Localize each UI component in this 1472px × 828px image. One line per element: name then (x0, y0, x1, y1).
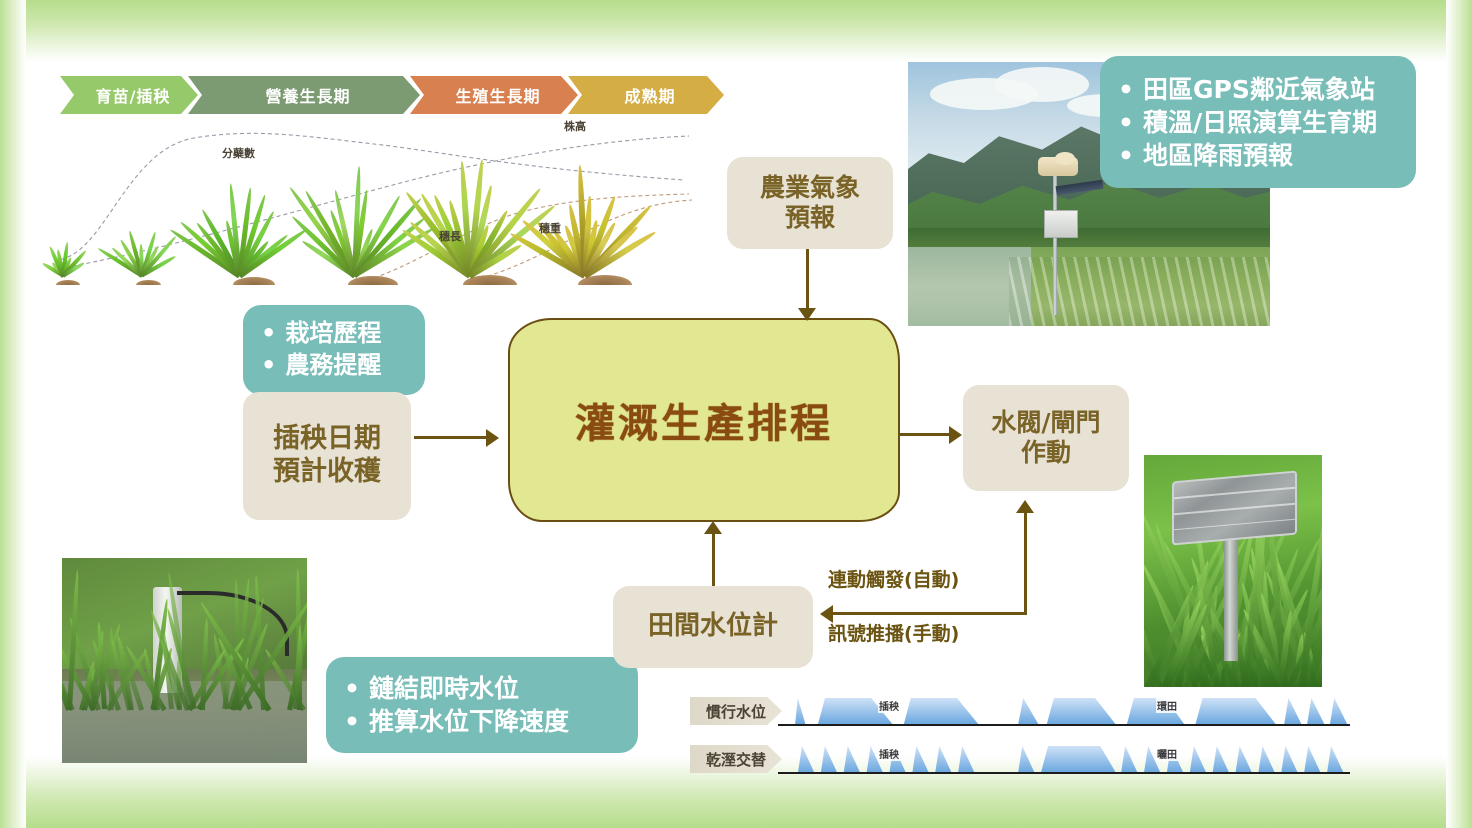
growth-curve-label-4: 穗重 (539, 220, 561, 236)
growth-stage-label: 育苗/插秧 (96, 83, 171, 107)
node-weather-forecast-line: 預報 (785, 203, 835, 234)
callout-cultivation-item: •栽培歷程 (261, 318, 407, 350)
decorative-frame-right (1446, 0, 1472, 828)
callout-weather-station-item: •田區GPS鄰近氣象站 (1118, 73, 1398, 106)
water-level-comparison-chart: 慣行水位插秧環田乾溼交替插秧曬田 (690, 695, 1350, 781)
edge-label-auto-trigger: 連動觸發(自動) (828, 565, 959, 592)
callout-weather-station-item: •積溫/日照演算生育期 (1118, 106, 1398, 139)
growth-stage-4: 成熟期 (568, 76, 724, 114)
water-chart-annotation: 曬田 (1156, 746, 1178, 761)
callout-weather-station-item-label: 積溫/日照演算生育期 (1143, 106, 1377, 139)
callout-water-level-item-label: 推算水位下降速度 (369, 705, 569, 738)
callout-water-level-item-label: 鏈結即時水位 (369, 672, 519, 705)
arrow-meter-valve-head-up (1016, 500, 1034, 513)
node-valve-gate-line: 作動 (1021, 438, 1071, 469)
photo-solar-node: 太陽能感測節點照片 (1144, 455, 1322, 687)
node-water-level-meter-line: 田間水位計 (648, 611, 778, 643)
callout-cultivation: •栽培歷程•農務提醒 (243, 305, 425, 395)
growth-stage-label: 成熟期 (624, 83, 675, 107)
arrow-meter-to-main-line (712, 534, 715, 586)
decorative-frame-top (0, 0, 1472, 62)
node-weather-forecast[interactable]: 農業氣象預報 (727, 157, 893, 249)
callout-cultivation-item-label: 栽培歷程 (285, 318, 381, 350)
growth-stage-label: 生殖生長期 (455, 83, 540, 107)
arrow-weather-to-main-head (798, 308, 816, 321)
growth-stage-3: 生殖生長期 (410, 76, 578, 114)
arrow-meter-valve-horizontal (833, 612, 1027, 615)
edge-label-manual-push: 訊號推播(手動) (828, 619, 959, 646)
node-planting-dates[interactable]: 插秧日期預計收穫 (243, 392, 411, 520)
callout-water-level-item: •鏈結即時水位 (344, 672, 620, 705)
photo-water-level-sensor: 田間水位計照片 (62, 558, 307, 763)
growth-stage-1: 育苗/插秧 (60, 76, 198, 114)
node-weather-forecast-line: 農業氣象 (760, 173, 860, 204)
bullet-icon: • (1118, 106, 1134, 139)
arrow-meter-valve-vertical (1024, 513, 1027, 615)
plant-soil (233, 277, 275, 285)
arrow-main-to-valve-line (899, 433, 951, 436)
growth-stage-label: 營養生長期 (265, 83, 350, 107)
callout-weather-station-item: •地區降雨預報 (1118, 139, 1398, 172)
bullet-icon: • (261, 350, 276, 382)
bullet-icon: • (344, 705, 360, 738)
arrow-planting-to-main-line (414, 436, 488, 439)
water-chart-annotation: 插秧 (878, 698, 900, 713)
growth-curve-label-1: 分蘗數 (222, 145, 255, 161)
arrow-meter-to-main-head (704, 521, 722, 534)
water-chart-row-2: 乾溼交替插秧曬田 (690, 743, 1350, 779)
growth-curve-label-2: 株高 (564, 118, 586, 134)
water-chart-series-label: 慣行水位 (690, 697, 782, 725)
arrow-planting-to-main-head (486, 429, 499, 447)
node-irrigation-schedule-label: 灌溉生產排程 (575, 391, 833, 449)
node-valve-gate-line: 水閥/閘門 (991, 408, 1100, 439)
callout-cultivation-item-label: 農務提醒 (285, 350, 381, 382)
decorative-frame-left (0, 0, 26, 828)
arrow-main-to-valve-head (949, 426, 962, 444)
callout-water-level-item: •推算水位下降速度 (344, 705, 620, 738)
water-chart-waveform (778, 743, 1350, 773)
rice-plant-1 (62, 237, 63, 276)
callout-weather-station-item-label: 地區降雨預報 (1143, 139, 1293, 172)
rice-plant-2 (142, 216, 143, 276)
callout-water-level: •鏈結即時水位•推算水位下降速度 (326, 657, 638, 753)
growth-curve-label-3: 穗長 (439, 228, 461, 244)
water-chart-annotation: 環田 (1156, 698, 1178, 713)
bullet-icon: • (1118, 73, 1134, 106)
water-chart-waveform (778, 695, 1350, 725)
callout-weather-station-item-label: 田區GPS鄰近氣象站 (1143, 73, 1375, 106)
growth-stage-2: 營養生長期 (188, 76, 420, 114)
plant-soil (136, 280, 161, 285)
node-planting-dates-line: 預計收穫 (273, 456, 381, 489)
node-planting-dates-line: 插秧日期 (273, 423, 381, 456)
node-irrigation-schedule[interactable]: 灌溉生產排程 (508, 318, 900, 522)
node-valve-gate[interactable]: 水閥/閘門作動 (963, 385, 1129, 491)
bullet-icon: • (344, 672, 360, 705)
rice-plant-5 (469, 146, 470, 276)
growth-stage-band: 育苗/插秧營養生長期生殖生長期成熟期 (60, 76, 714, 114)
rice-plant-4 (354, 156, 355, 276)
callout-weather-station: •田區GPS鄰近氣象站•積溫/日照演算生育期•地區降雨預報 (1100, 56, 1416, 188)
rice-plant-6 (584, 146, 585, 276)
callout-cultivation-item: •農務提醒 (261, 350, 407, 382)
water-chart-annotation: 插秧 (878, 746, 900, 761)
arrow-weather-to-main-line (806, 249, 809, 310)
rice-growth-illustration: 分蘗數株高穗長穗重 (44, 110, 694, 285)
slide-canvas: 育苗/插秧營養生長期生殖生長期成熟期 分蘗數株高穗長穗重 田間氣象站照片 田間水… (0, 0, 1472, 828)
plant-soil (56, 280, 80, 285)
node-water-level-meter[interactable]: 田間水位計 (613, 586, 813, 668)
bullet-icon: • (1118, 139, 1134, 172)
rice-plant-3 (239, 175, 240, 276)
water-chart-series-label: 乾溼交替 (690, 745, 782, 773)
bullet-icon: • (261, 318, 276, 350)
water-chart-row-1: 慣行水位插秧環田 (690, 695, 1350, 731)
